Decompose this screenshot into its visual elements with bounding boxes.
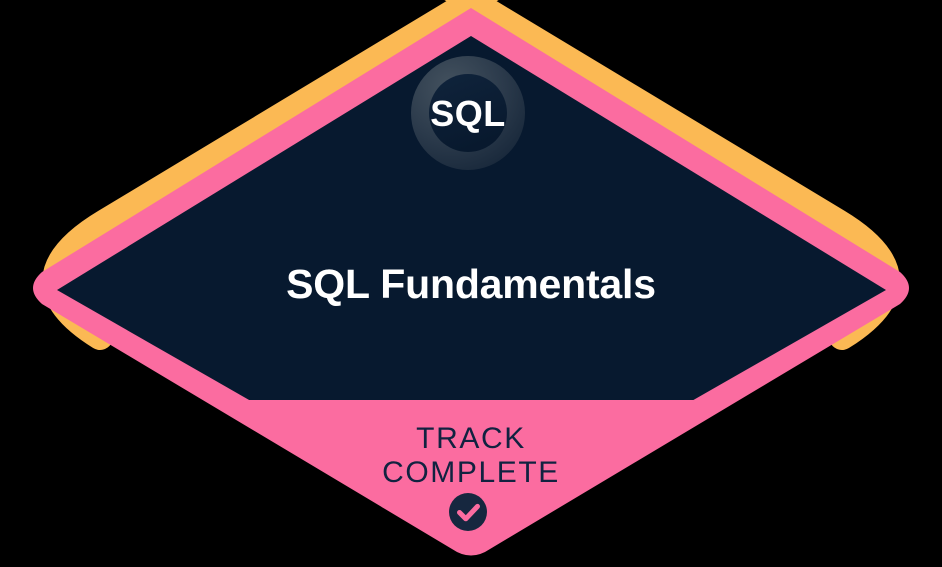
check-circle: [449, 493, 487, 531]
abbreviation-label: SQL: [430, 93, 506, 134]
track-completion-badge: SQL SQL Fundamentals TRACK COMPLETE: [0, 0, 942, 567]
badge-graphic: SQL SQL Fundamentals TRACK COMPLETE: [0, 0, 942, 567]
completion-check-badge: [449, 493, 487, 531]
track-title: SQL Fundamentals: [286, 261, 656, 307]
status-line-secondary: COMPLETE: [382, 456, 560, 489]
status-line-primary: TRACK: [416, 422, 526, 455]
